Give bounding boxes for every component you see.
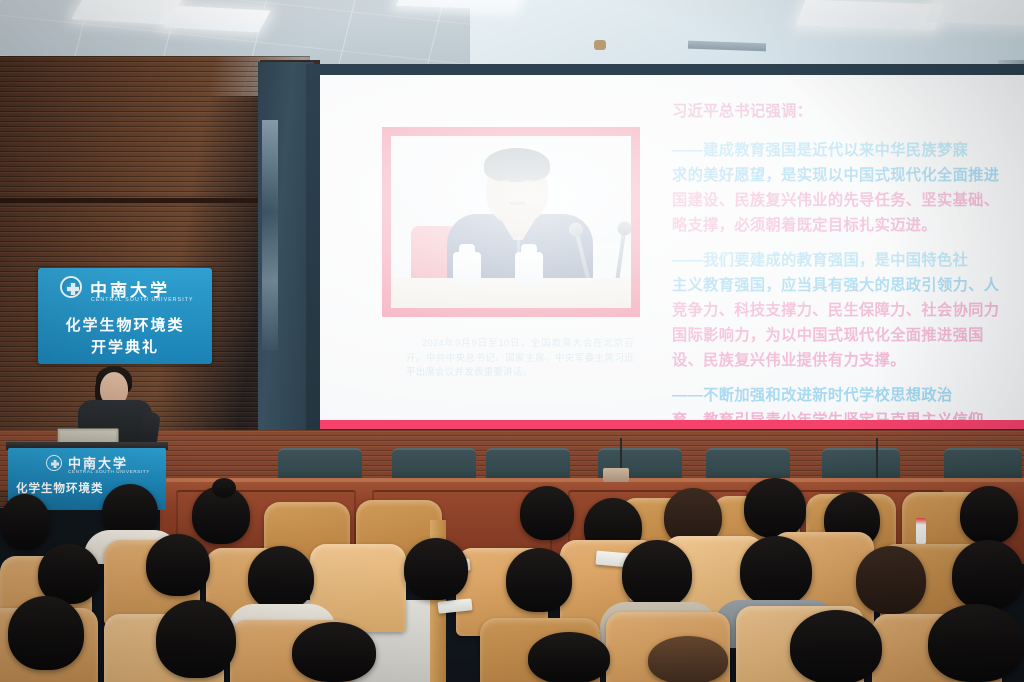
slide-line: 略支撑，必须朝着既定目标扎实迈进。 [672,213,1024,238]
stage-chair [278,448,362,482]
slide-text-block: 习近平总书记强调： ——建成教育强国是近代以来中华民族梦寐 求的美好愿望，是实现… [672,99,1024,429]
slide-heading: 习近平总书记强调： [672,99,1024,124]
stage-mic-stand [876,438,878,478]
photo-face-mouth [509,202,525,205]
audience-head [740,536,812,606]
slide-photo-frame [382,127,640,317]
banner-university-en: CENTRAL SOUTH UNIVERSITY [91,297,194,303]
audience-head [528,632,610,682]
wall-banner: 中南大学 CENTRAL SOUTH UNIVERSITY 化学生物环境类 开学… [38,268,212,364]
photo-teacup-icon [515,252,543,286]
stage-chair [822,448,900,482]
audience-head [856,546,926,614]
banner-line-2: 开学典礼 [38,336,212,357]
podium-microphone-icon [603,468,629,482]
auditorium-scene: 中南大学 CENTRAL SOUTH UNIVERSITY 化学生物环境类 开学… [0,0,1024,682]
podium-university-en: CENTRAL SOUTH UNIVERSITY [68,469,150,474]
audience-head [960,486,1018,544]
stage-chair [392,448,476,482]
audience-hair-bun [212,478,236,498]
audience-head [38,544,100,604]
audience-head [292,622,376,682]
wall-seam [0,198,266,203]
slide-line: 国建设、民族复兴伟业的先导任务、坚实基础、 [672,188,1024,213]
photo-table [391,278,631,308]
slide-line: 求的美好愿望，是实现以中国式现代化全面推进 [672,163,1024,188]
photo-face-eye [523,180,533,182]
audience-head [744,478,806,538]
water-bottle-icon [916,518,926,544]
slide-line: ——不断加强和改进新时代学校思想政治 [672,383,1024,408]
photo-face-eye [500,180,510,182]
audience-head [648,636,728,682]
seal-glyph-icon [67,283,79,295]
ceiling-light-icon [925,0,1024,26]
university-seal-icon [60,276,82,298]
stage-chair [706,448,790,482]
audience-head [8,596,84,670]
audience-head [156,600,236,678]
projection-screen: 2024年9月9日至10日，全国教育大会在北京召开。中共中央总书记、国家主席、中… [320,75,1024,429]
audience-head [928,604,1024,682]
audience-head [146,534,210,596]
slide-line: 国际影响力，为以中国式现代化全面推进强国 [672,323,1024,348]
audience-head [0,494,50,550]
pillar-reflection [262,120,278,350]
stage-chair [944,448,1022,482]
audience-head [404,538,468,600]
ceiling-light-icon [796,0,944,30]
slide-line: 设、民族复兴伟业提供有力支撑。 [672,348,1024,373]
ceiling-sensor-icon [594,40,606,50]
university-seal-icon [46,455,62,471]
audience-head [506,548,572,612]
audience-head [952,540,1024,610]
slide-line: 主义教育强国，应当具有强大的思政引领力、人 [672,273,1024,298]
audience-head [520,486,574,540]
slide-photo [391,136,631,308]
projection-screen-frame: 2024年9月9日至10日，全国教育大会在北京召开。中共中央总书记、国家主席、中… [306,64,1024,432]
banner-line-1: 化学生物环境类 [38,314,212,335]
photo-person-hair [484,148,550,182]
slide-line: 竞争力、科技支撑力、民生保障力、社会协同力 [672,298,1024,323]
audience-head [790,610,882,682]
photo-teacup-icon [453,252,481,286]
slide-accent-bar [320,420,1024,429]
audience-head [248,546,314,610]
slide-photo-caption: 2024年9月9日至10日，全国教育大会在北京召开。中共中央总书记、国家主席、中… [406,337,634,381]
slide-line: ——我们要建成的教育强国，是中国特色社 [672,248,1024,273]
audience-head [622,540,692,608]
slide-line: ——建成教育强国是近代以来中华民族梦寐 [672,138,1024,163]
stage-chair [486,448,570,482]
